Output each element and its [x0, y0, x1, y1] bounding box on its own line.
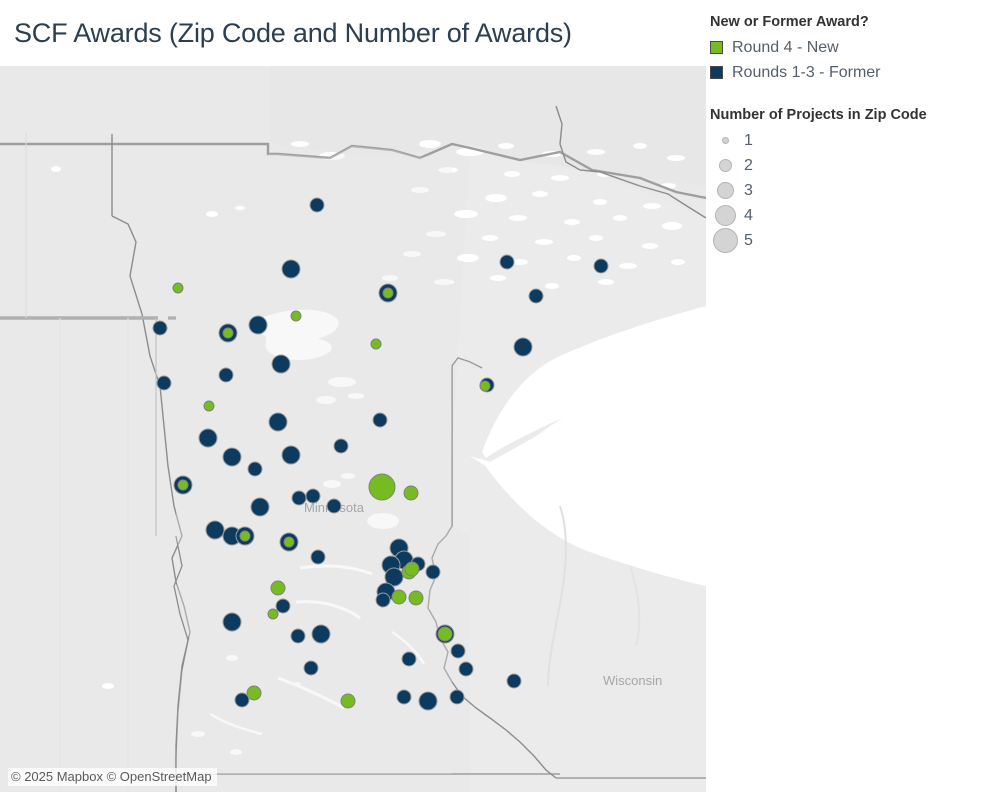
map-marker[interactable]	[373, 413, 388, 428]
map-marker[interactable]	[310, 198, 325, 213]
visualization-root: SCF Awards (Zip Code and Number of Award…	[0, 0, 1000, 800]
map-marker[interactable]	[371, 339, 382, 350]
map-marker[interactable]	[405, 562, 420, 577]
map-marker[interactable]	[450, 690, 465, 705]
map-marker[interactable]	[500, 255, 515, 270]
map-marker[interactable]	[199, 429, 218, 448]
map-marker[interactable]	[426, 565, 441, 580]
color-legend-label: Rounds 1-3 - Former	[732, 64, 881, 82]
map-marker[interactable]	[392, 590, 407, 605]
size-legend-title: Number of Projects in Zip Code	[710, 107, 996, 123]
map-marker[interactable]	[306, 489, 321, 504]
map-marker[interactable]	[204, 401, 215, 412]
map-marker[interactable]	[240, 531, 251, 542]
size-circle-slot	[710, 137, 740, 144]
map-basemap	[0, 66, 706, 792]
size-legend-label: 2	[744, 157, 753, 175]
size-circle	[719, 159, 732, 172]
map-marker[interactable]	[291, 311, 302, 322]
size-circle-slot	[710, 228, 740, 253]
size-circle-slot	[710, 182, 740, 199]
map-marker[interactable]	[251, 498, 270, 517]
size-circle	[717, 182, 734, 199]
size-legend-label: 3	[744, 182, 753, 200]
map-marker[interactable]	[594, 259, 609, 274]
color-legend-title: New or Former Award?	[710, 14, 996, 30]
size-legend: Number of Projects in Zip Code 12345	[710, 107, 996, 253]
map-marker[interactable]	[507, 674, 522, 689]
map-marker[interactable]	[438, 627, 453, 642]
size-legend-label: 5	[744, 232, 753, 250]
map-marker[interactable]	[284, 537, 295, 548]
map-marker[interactable]	[291, 629, 306, 644]
page-title: SCF Awards (Zip Code and Number of Award…	[14, 18, 704, 49]
map-marker[interactable]	[369, 474, 396, 501]
map-marker[interactable]	[459, 662, 474, 677]
map-marker[interactable]	[282, 260, 301, 279]
map-marker[interactable]	[249, 316, 268, 335]
map-marker[interactable]	[327, 499, 342, 514]
map-marker[interactable]	[219, 368, 234, 383]
map-marker[interactable]	[514, 338, 533, 357]
map-marker[interactable]	[304, 661, 319, 676]
map-marker[interactable]	[404, 486, 419, 501]
size-circle	[715, 205, 736, 226]
map-marker[interactable]	[223, 328, 234, 339]
size-legend-label: 1	[744, 132, 753, 150]
color-legend-label: Round 4 - New	[732, 39, 839, 57]
size-legend-item[interactable]: 5	[710, 228, 996, 253]
map-marker[interactable]	[409, 591, 424, 606]
map-marker[interactable]	[153, 321, 168, 336]
map-marker[interactable]	[311, 550, 326, 565]
legend-column: New or Former Award? Round 4 - NewRounds…	[710, 14, 996, 275]
map-marker[interactable]	[480, 381, 491, 392]
map-marker[interactable]	[419, 692, 438, 711]
color-swatch	[710, 66, 723, 79]
map-marker[interactable]	[383, 288, 394, 299]
map-panel[interactable]: Minnesota Wisconsin © 2025 Mapbox © Open…	[0, 66, 706, 792]
map-marker[interactable]	[157, 376, 172, 391]
map-marker[interactable]	[268, 609, 279, 620]
size-legend-item[interactable]: 2	[710, 153, 996, 178]
map-marker[interactable]	[397, 690, 412, 705]
color-legend: New or Former Award? Round 4 - NewRounds…	[710, 14, 996, 85]
color-legend-item[interactable]: Rounds 1-3 - Former	[710, 60, 996, 85]
map-marker[interactable]	[376, 593, 391, 608]
map-marker[interactable]	[529, 289, 544, 304]
map-marker[interactable]	[341, 694, 356, 709]
map-marker[interactable]	[178, 480, 189, 491]
map-marker[interactable]	[271, 581, 286, 596]
map-marker[interactable]	[272, 355, 291, 374]
size-circle-slot	[710, 205, 740, 226]
size-legend-item[interactable]: 1	[710, 128, 996, 153]
color-swatch	[710, 41, 723, 54]
map-marker[interactable]	[248, 462, 263, 477]
map-marker[interactable]	[235, 693, 250, 708]
map-marker[interactable]	[451, 644, 466, 659]
size-legend-label: 4	[744, 207, 753, 225]
map-marker[interactable]	[269, 413, 288, 432]
size-legend-item[interactable]: 4	[710, 203, 996, 228]
map-marker[interactable]	[402, 652, 417, 667]
size-circle-slot	[710, 159, 740, 172]
map-attribution: © 2025 Mapbox © OpenStreetMap	[8, 768, 217, 786]
map-marker[interactable]	[223, 613, 242, 632]
size-circle	[713, 228, 738, 253]
map-marker[interactable]	[173, 283, 184, 294]
size-legend-item[interactable]: 3	[710, 178, 996, 203]
map-marker[interactable]	[223, 448, 242, 467]
map-marker[interactable]	[292, 491, 307, 506]
color-legend-item[interactable]: Round 4 - New	[710, 35, 996, 60]
map-marker[interactable]	[282, 446, 301, 465]
size-circle	[722, 137, 729, 144]
map-marker[interactable]	[334, 439, 349, 454]
map-marker[interactable]	[312, 625, 331, 644]
